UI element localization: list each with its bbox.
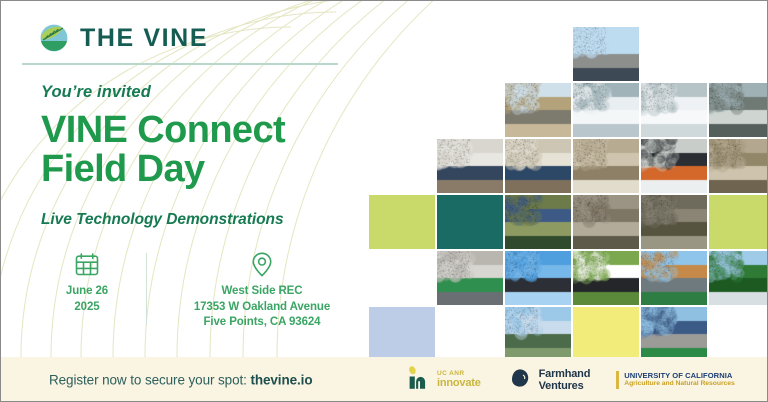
uc-wordmark: UNIVERSITY OF CALIFORNIA Agriculture and… (624, 372, 735, 389)
hero-headline-line2: Field Day (41, 148, 205, 190)
water-spray-photo (573, 83, 639, 137)
poster-header: THE VINE (1, 1, 361, 64)
sponsor-university-of-california: UNIVERSITY OF CALIFORNIA Agriculture and… (616, 371, 735, 389)
hero-eyebrow: You’re invited (41, 83, 371, 102)
water-mist-photo (641, 83, 707, 137)
attendees-field-photo (505, 139, 571, 193)
brand-lockup: THE VINE (39, 23, 208, 53)
vine-globe-leaf-icon (39, 23, 69, 53)
uc-line1: UNIVERSITY OF CALIFORNIA (624, 372, 735, 381)
registration-url[interactable]: thevine.io (250, 373, 312, 388)
mosaic-tree-barn-photo (505, 83, 571, 137)
sponsor-uc-anr-innovate: UC ANR innovate (405, 365, 481, 396)
mosaic-water-spray-photo (573, 83, 639, 137)
mosaic-color-tile (709, 195, 768, 249)
event-date-text: June 26 2025 (66, 284, 108, 315)
brand-name: THE VINE (80, 26, 208, 51)
green-tractor-photo (709, 251, 768, 305)
drone-flight-photo (505, 251, 571, 305)
mosaic-farm-building-sky-photo (573, 27, 639, 81)
mosaic-indoor-robot-demo-photo (437, 251, 503, 305)
event-location-text: West Side REC 17353 W Oakland Avenue Fiv… (194, 284, 330, 331)
registration-text: Register now to secure your spot: (49, 373, 247, 388)
farmworker-hat-photo (641, 251, 707, 305)
mosaic-color-tile (369, 307, 435, 361)
event-date-line1: June 26 (66, 284, 108, 300)
registration-cta: Register now to secure your spot: thevin… (49, 373, 312, 388)
mosaic-color-tile (369, 195, 435, 249)
color-swatch (369, 307, 435, 361)
in-leaf-mark-icon (405, 365, 431, 396)
farmworker-jeans-photo (641, 307, 707, 361)
event-date: June 26 2025 (48, 251, 126, 315)
mosaic-bale-stack-photo (709, 139, 768, 193)
photo-mosaic (369, 27, 768, 357)
mosaic-orchard-fence-photo (709, 83, 768, 137)
tree-barn-photo (505, 83, 571, 137)
color-swatch (437, 195, 503, 249)
mosaic-sky-tree-photo (505, 307, 571, 361)
hero-subhead: Live Technology Demonstrations (41, 211, 371, 229)
orange-sprayer-robot-photo (641, 139, 707, 193)
uc-line2: Agriculture and Natural Resources (624, 380, 735, 388)
event-location-line1: West Side REC (194, 284, 330, 300)
event-details: June 26 2025 West Side REC 17353 W Oakla… (48, 251, 355, 331)
color-swatch (369, 195, 435, 249)
soil-field-photo (641, 195, 707, 249)
indoor-robot-demo-photo (437, 251, 503, 305)
farmhand-line2: Ventures (539, 380, 591, 392)
mosaic-drone-flight-photo (505, 251, 571, 305)
sponsor-farmhand-ventures: Farmhand Ventures (507, 365, 591, 396)
hay-bales-photo (573, 139, 639, 193)
event-location-line3: Five Points, CA 93624 (194, 315, 330, 331)
color-swatch (709, 195, 768, 249)
mosaic-water-mist-photo (641, 83, 707, 137)
color-swatch (573, 307, 639, 361)
sponsor-logos: UC ANR innovate Farmhand Ventures (405, 357, 735, 402)
header-divider (22, 63, 338, 65)
mosaic-green-tractor-photo (709, 251, 768, 305)
event-location: West Side REC 17353 W Oakland Avenue Fiv… (169, 251, 355, 331)
dairy-cows-photo (573, 251, 639, 305)
map-pin-icon (252, 251, 272, 277)
mosaic-farmworker-jeans-photo (641, 307, 707, 361)
mosaic-dirt-row-photo (573, 195, 639, 249)
event-date-line2: 2025 (66, 300, 108, 316)
uc-gold-bar-icon (616, 371, 619, 389)
hero-copy: You’re invited VINE Connect Field Day Li… (41, 83, 371, 229)
uc-anr-line2: innovate (437, 378, 481, 389)
mosaic-planting-hands-photo (505, 195, 571, 249)
farmhand-wordmark: Farmhand Ventures (539, 368, 591, 393)
calendar-icon (75, 251, 99, 277)
farmhand-line1: Farmhand (539, 368, 591, 380)
uc-anr-innovate-wordmark: UC ANR innovate (437, 371, 481, 389)
mosaic-farmworker-hat-photo (641, 251, 707, 305)
dirt-row-photo (573, 195, 639, 249)
hero-headline-line1: VINE Connect (41, 109, 285, 151)
mosaic-attendees-trucks-photo (437, 139, 503, 193)
mosaic-attendees-field-photo (505, 139, 571, 193)
footer-bar: Register now to secure your spot: thevin… (1, 357, 768, 402)
mosaic-color-tile (437, 195, 503, 249)
mosaic-dairy-cows-photo (573, 251, 639, 305)
orchard-fence-photo (709, 83, 768, 137)
farm-building-sky-photo (573, 27, 639, 81)
sky-tree-photo (505, 307, 571, 361)
mosaic-color-tile (573, 307, 639, 361)
event-location-line2: 17353 W Oakland Avenue (194, 300, 330, 316)
farmhand-glove-icon (507, 365, 533, 396)
bale-stack-photo (709, 139, 768, 193)
hero-headline: VINE Connect Field Day (41, 111, 371, 189)
mosaic-hay-bales-photo (573, 139, 639, 193)
details-divider (146, 253, 147, 325)
mosaic-soil-field-photo (641, 195, 707, 249)
planting-hands-photo (505, 195, 571, 249)
attendees-trucks-photo (437, 139, 503, 193)
mosaic-orange-sprayer-robot-photo (641, 139, 707, 193)
poster-canvas: THE VINE You’re invited VINE Connect Fie… (0, 0, 768, 402)
